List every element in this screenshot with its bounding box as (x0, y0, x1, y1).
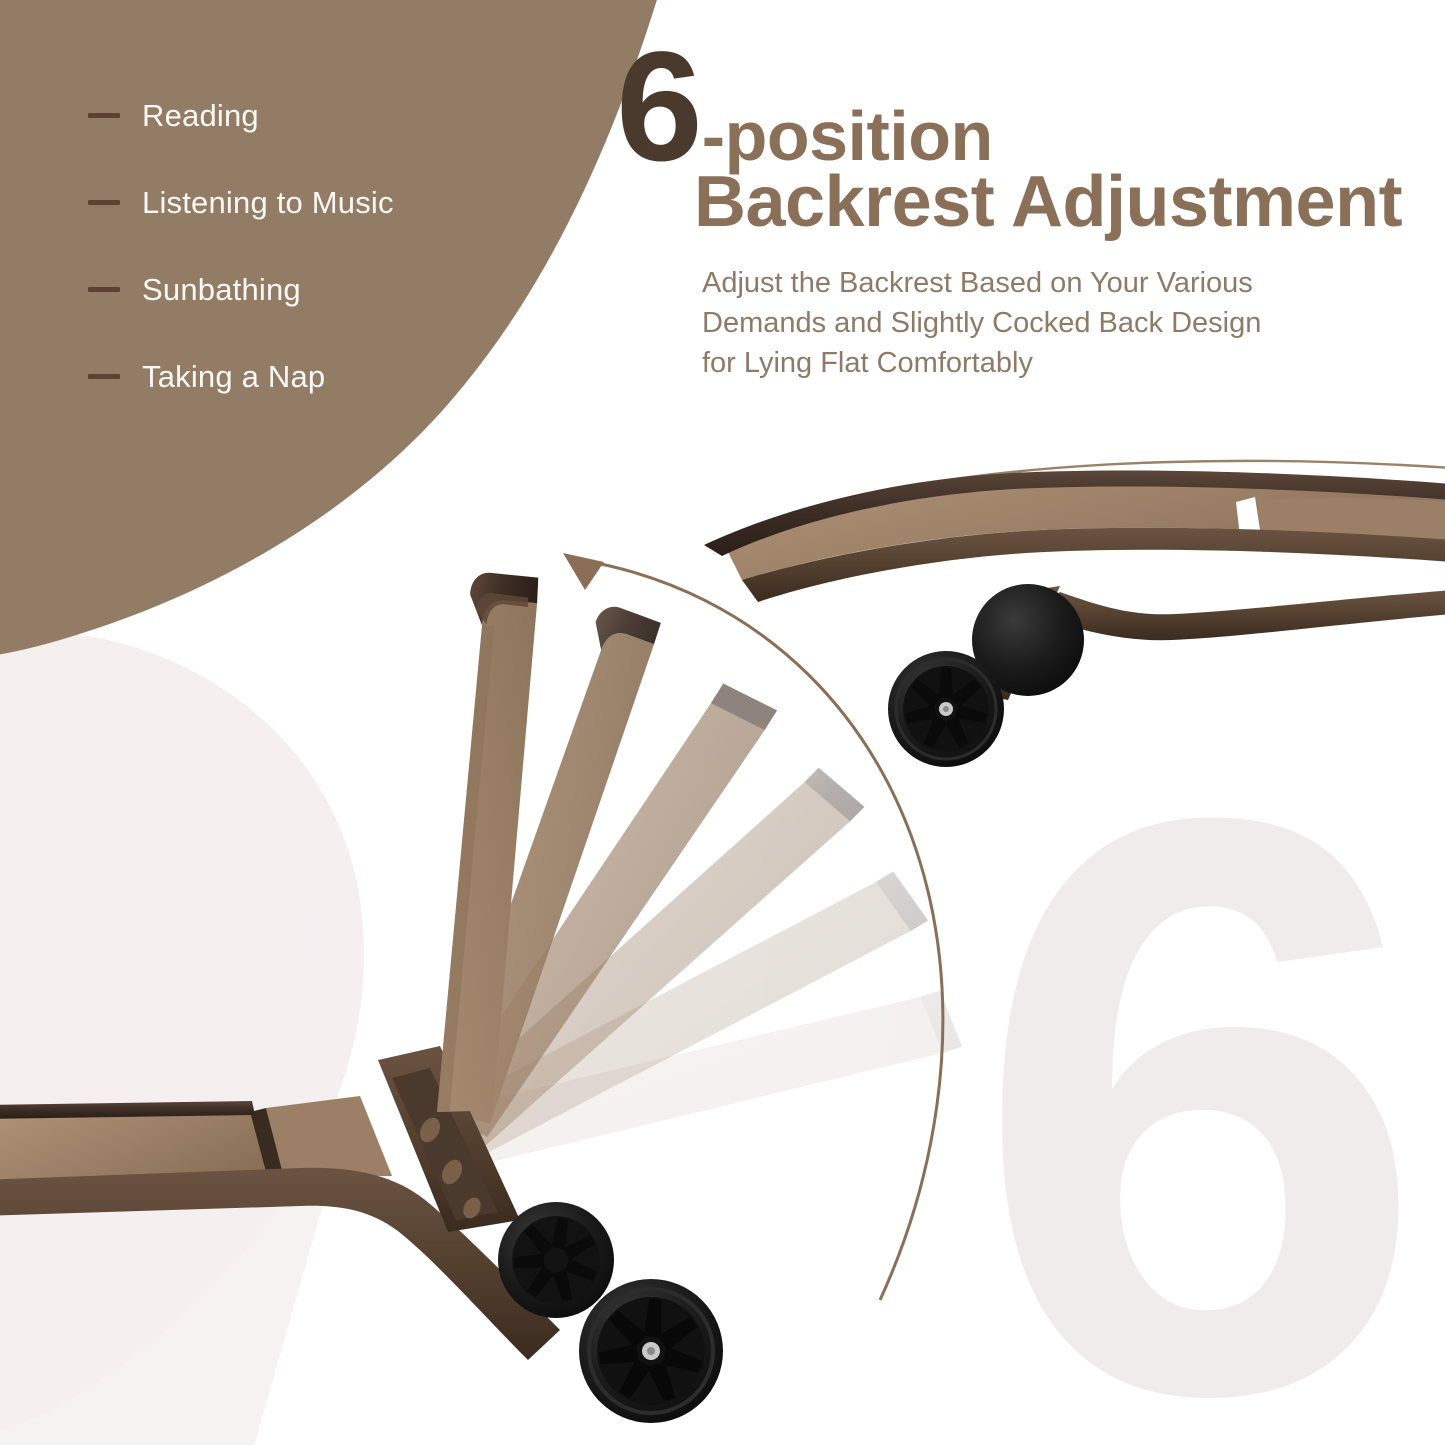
list-item-label: Taking a Nap (142, 361, 325, 392)
list-item: Sunbathing (88, 246, 508, 333)
headline-number-suffix: -position (702, 101, 993, 171)
list-item-label: Sunbathing (142, 274, 301, 305)
dash-bullet-icon (88, 113, 120, 118)
dash-bullet-icon (88, 287, 120, 292)
headline-number-row: 6 -position (616, 44, 1406, 172)
headline-block: 6 -position Backrest Adjustment Adjust t… (616, 44, 1406, 383)
beige-blob-shape-2 (0, 700, 330, 1445)
list-item: Reading (88, 72, 508, 159)
list-item: Taking a Nap (88, 333, 508, 420)
dash-bullet-icon (88, 200, 120, 205)
description-line: Demands and Slightly Cocked Back Design (702, 303, 1406, 343)
description-line: for Lying Flat Comfortably (702, 343, 1406, 383)
page-title: Backrest Adjustment (694, 166, 1406, 239)
dash-bullet-icon (88, 374, 120, 379)
list-item: Listening to Music (88, 159, 508, 246)
infographic-canvas: 6 Reading Listening to Music Sunbathing … (0, 0, 1445, 1445)
headline-description: Adjust the Backrest Based on Your Variou… (702, 263, 1406, 383)
feature-list: Reading Listening to Music Sunbathing Ta… (88, 72, 508, 420)
list-item-label: Listening to Music (142, 187, 394, 218)
list-item-label: Reading (142, 100, 259, 131)
headline-number: 6 (616, 44, 700, 172)
description-line: Adjust the Backrest Based on Your Variou… (702, 263, 1406, 303)
